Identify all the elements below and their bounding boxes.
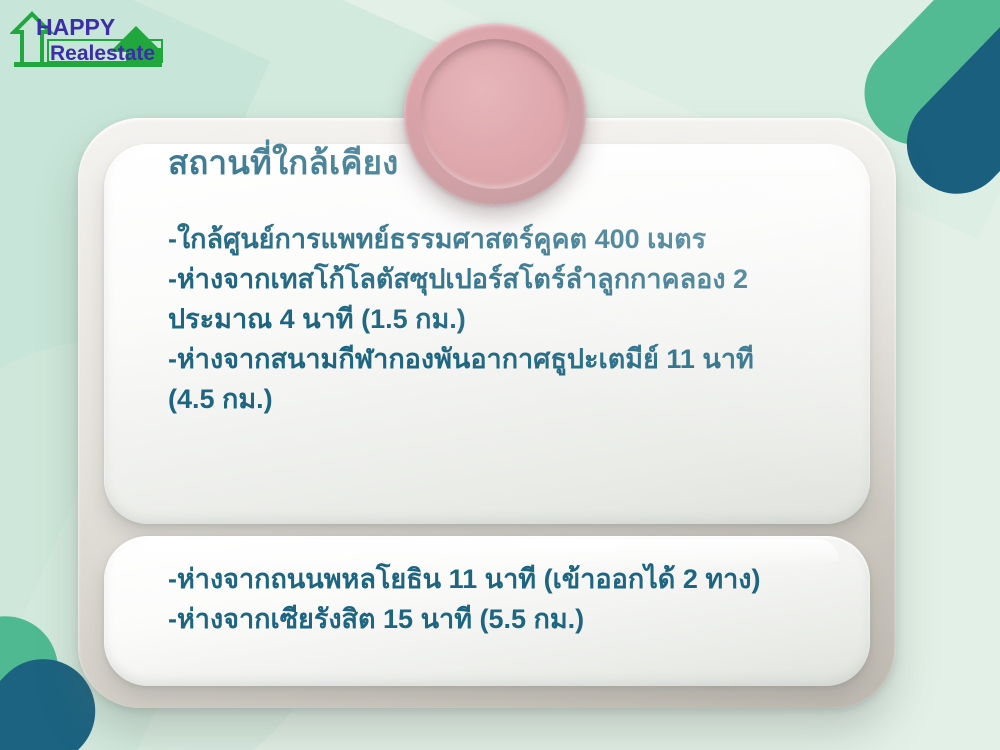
bottom-panel-text: -ห่างจากถนนพหลโยธิน 11 นาที (เข้าออกได้ … bbox=[168, 560, 836, 640]
logo-word-top: HAPPY bbox=[36, 14, 115, 40]
brand-logo[interactable]: HAPPY Realestate bbox=[10, 8, 175, 70]
pink-round-disc-icon bbox=[404, 23, 586, 205]
list-item: -ใกล้ศูนย์การแพทย์ธรรมศาสตร์คูคต 400 เมต… bbox=[168, 220, 836, 260]
nearby-places-bottom-panel: -ห่างจากถนนพหลโยธิน 11 นาที (เข้าออกได้ … bbox=[104, 536, 870, 686]
house-arrow-logo-icon: HAPPY Realestate bbox=[10, 8, 175, 70]
info-card-tray: สถานที่ใกล้เคียง -ใกล้ศูนย์การแพทย์ธรรมศ… bbox=[78, 118, 896, 708]
list-item: -ห่างจากสนามกีฬากองพันอากาศธูปะเตมีย์ 11… bbox=[168, 340, 836, 380]
top-panel-text: -ใกล้ศูนย์การแพทย์ธรรมศาสตร์คูคต 400 เมต… bbox=[168, 220, 836, 420]
list-item: -ห่างจากเซียรังสิต 15 นาที (5.5 กม.) bbox=[168, 600, 836, 640]
list-item: ประมาณ 4 นาที (1.5 กม.) bbox=[168, 300, 836, 340]
logo-word-bottom: Realestate bbox=[50, 42, 155, 65]
list-item: (4.5 กม.) bbox=[168, 380, 836, 420]
list-item: -ห่างจากเทสโก้โลตัสซุปเปอร์สโตร์ลำลูกกาค… bbox=[168, 260, 836, 300]
list-item: -ห่างจากถนนพหลโยธิน 11 นาที (เข้าออกได้ … bbox=[168, 560, 836, 600]
pink-disc-inner bbox=[420, 39, 570, 189]
